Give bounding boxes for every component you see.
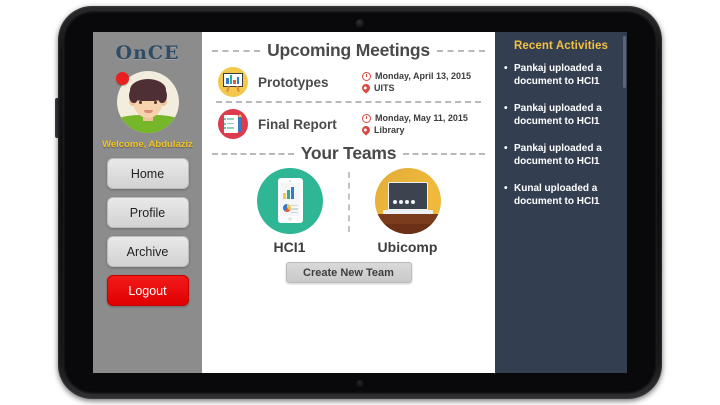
left-sidebar: OnCE (93, 32, 202, 373)
create-new-team-button[interactable]: Create New Team (286, 262, 412, 283)
recent-activities-sidebar: Recent Activities • Pankaj uploaded a do… (495, 32, 627, 373)
activity-text: Pankaj uploaded a document to HCI1 (514, 62, 618, 88)
activity-item[interactable]: • Pankaj uploaded a document to HCI1 (504, 142, 618, 168)
activity-item[interactable]: • Pankaj uploaded a document to HCI1 (504, 102, 618, 128)
welcome-label: Welcome, Abdulaziz (102, 139, 193, 150)
laptop-desk-icon (375, 168, 441, 234)
home-button-icon[interactable] (357, 380, 364, 387)
meeting-row[interactable]: Prototypes Monday, April 13, 2015 UITS (218, 67, 485, 97)
notification-badge-icon[interactable] (116, 72, 129, 85)
volume-button[interactable] (55, 98, 59, 138)
bullet-icon: • (504, 182, 509, 208)
meeting-date: Monday, April 13, 2015 (375, 71, 471, 81)
location-pin-icon (360, 82, 371, 93)
recent-activities-title: Recent Activities (504, 40, 618, 52)
tablet-analytics-icon (257, 168, 323, 234)
section-title-teams: Your Teams (301, 143, 397, 164)
meeting-meta: Monday, May 11, 2015 Library (362, 113, 468, 135)
avatar[interactable] (117, 71, 179, 133)
screenshot-root: OnCE (0, 0, 720, 405)
meeting-date: Monday, May 11, 2015 (375, 113, 468, 123)
team-card-ubicomp[interactable]: Ubicomp (356, 168, 460, 255)
document-pencil-icon (218, 109, 248, 139)
team-card-hci1[interactable]: HCI1 (238, 168, 342, 255)
activity-text: Pankaj uploaded a document to HCI1 (514, 142, 618, 168)
upcoming-meetings-header: Upcoming Meetings (212, 40, 485, 61)
divider-right (403, 153, 485, 155)
front-camera-icon (356, 19, 365, 28)
bullet-icon: • (504, 102, 509, 128)
meeting-title: Prototypes (258, 75, 354, 90)
scrollbar[interactable] (623, 36, 626, 88)
team-divider (348, 172, 350, 232)
bullet-icon: • (504, 62, 509, 88)
divider-left (212, 153, 294, 155)
meeting-location: UITS (374, 83, 395, 93)
meeting-meta: Monday, April 13, 2015 UITS (362, 71, 471, 93)
divider-right (437, 50, 485, 52)
clock-icon (362, 72, 371, 81)
meeting-divider (216, 101, 481, 103)
location-pin-icon (360, 124, 371, 135)
tablet-screen: OnCE (93, 32, 627, 373)
tablet-device: OnCE (58, 6, 662, 399)
activity-item[interactable]: • Kunal uploaded a document to HCI1 (504, 182, 618, 208)
teams-list: HCI1 Ubicomp (212, 168, 485, 255)
sidebar-item-profile[interactable]: Profile (107, 197, 189, 228)
bullet-icon: • (504, 142, 509, 168)
sidebar-item-home[interactable]: Home (107, 158, 189, 189)
app-logo: OnCE (116, 42, 180, 64)
your-teams-header: Your Teams (212, 143, 485, 164)
activity-text: Kunal uploaded a document to HCI1 (514, 182, 618, 208)
presentation-chart-icon (218, 67, 248, 97)
divider-left (212, 50, 260, 52)
sidebar-item-archive[interactable]: Archive (107, 236, 189, 267)
meeting-location: Library (374, 125, 405, 135)
logout-button[interactable]: Logout (107, 275, 189, 306)
clock-icon (362, 114, 371, 123)
activity-item[interactable]: • Pankaj uploaded a document to HCI1 (504, 62, 618, 88)
meeting-title: Final Report (258, 117, 354, 132)
meeting-row[interactable]: Final Report Monday, May 11, 2015 Librar… (218, 109, 485, 139)
activity-text: Pankaj uploaded a document to HCI1 (514, 102, 618, 128)
team-name: HCI1 (274, 239, 306, 255)
main-content: Upcoming Meetings Prototypes (202, 32, 495, 373)
section-title-meetings: Upcoming Meetings (267, 40, 430, 61)
team-name: Ubicomp (378, 239, 438, 255)
